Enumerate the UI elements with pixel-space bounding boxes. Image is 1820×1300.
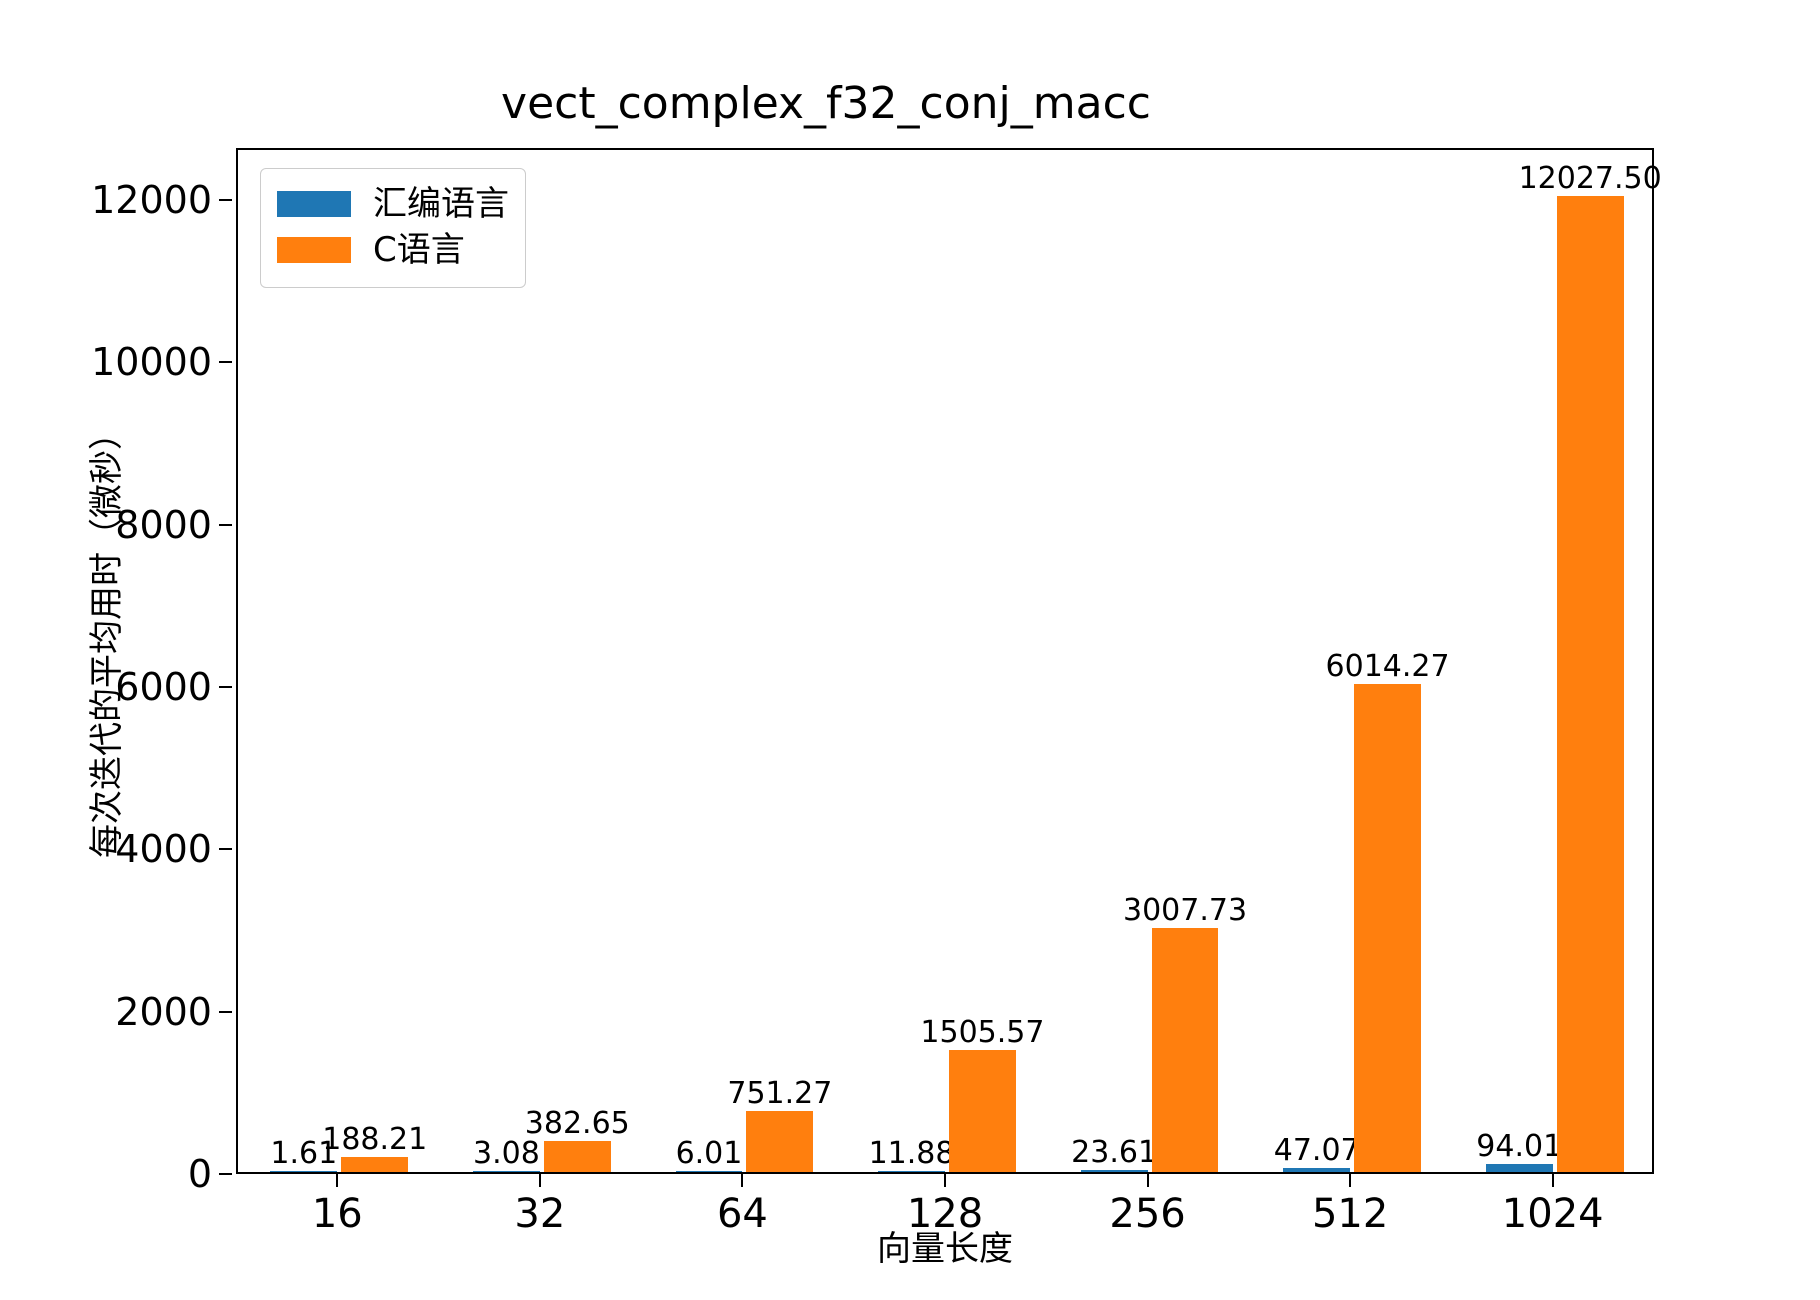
y-tick-mark <box>219 686 232 688</box>
bar-asm-256[interactable] <box>1081 1170 1148 1172</box>
bar-value-label: 12027.50 <box>1440 162 1740 196</box>
bar-value-label: 94.01 <box>1369 1130 1669 1164</box>
legend-item-asm[interactable]: 汇编语言 <box>277 181 509 227</box>
y-tick-mark <box>219 1011 232 1013</box>
legend-label: 汇编语言 <box>373 184 509 224</box>
x-tick-mark <box>1147 1174 1149 1187</box>
y-tick-mark <box>219 848 232 850</box>
y-tick-label: 8000 <box>115 503 212 547</box>
bar-asm-16[interactable] <box>270 1171 337 1172</box>
bar-asm-512[interactable] <box>1283 1168 1350 1172</box>
chart-legend[interactable]: 汇编语言C语言 <box>260 168 526 288</box>
y-axis-label: 每次迭代的平均用时（微秒） <box>87 287 127 987</box>
chart-title: vect_complex_f32_conj_macc <box>236 78 1416 130</box>
x-tick-mark <box>1349 1174 1351 1187</box>
y-tick-label: 10000 <box>91 340 212 384</box>
bar-value-label: 1505.57 <box>832 1016 1132 1050</box>
legend-swatch-icon <box>277 237 351 263</box>
x-tick-mark <box>1552 1174 1554 1187</box>
plot-area: 1.61188.213.08382.656.01751.2711.881505.… <box>236 148 1654 1174</box>
x-tick-mark <box>944 1174 946 1187</box>
bar-asm-32[interactable] <box>473 1171 540 1172</box>
bar-c-1024[interactable] <box>1557 196 1624 1172</box>
y-tick-mark <box>219 524 232 526</box>
y-tick-label: 6000 <box>115 665 212 709</box>
chart-figure: vect_complex_f32_conj_macc 每次迭代的平均用时（微秒）… <box>0 0 1820 1300</box>
y-tick-label: 2000 <box>115 990 212 1034</box>
bar-asm-128[interactable] <box>878 1171 945 1172</box>
bar-c-512[interactable] <box>1354 684 1421 1172</box>
bar-value-label: 751.27 <box>630 1077 930 1111</box>
bars-container: 1.61188.213.08382.656.01751.2711.881505.… <box>238 150 1652 1172</box>
x-tick-mark <box>336 1174 338 1187</box>
y-tick-label: 4000 <box>115 827 212 871</box>
x-tick-mark <box>741 1174 743 1187</box>
legend-swatch-icon <box>277 191 351 217</box>
x-tick-mark <box>539 1174 541 1187</box>
y-tick-mark <box>219 199 232 201</box>
bar-value-label: 6014.27 <box>1238 650 1538 684</box>
x-axis-label: 向量长度 <box>236 1228 1654 1270</box>
bar-value-label: 3007.73 <box>1035 894 1335 928</box>
y-tick-label: 12000 <box>91 178 212 222</box>
y-tick-mark <box>219 1173 232 1175</box>
legend-label: C语言 <box>373 230 465 270</box>
y-tick-mark <box>219 361 232 363</box>
legend-item-c[interactable]: C语言 <box>277 227 509 273</box>
bar-asm-1024[interactable] <box>1486 1164 1553 1172</box>
bar-asm-64[interactable] <box>676 1171 743 1172</box>
